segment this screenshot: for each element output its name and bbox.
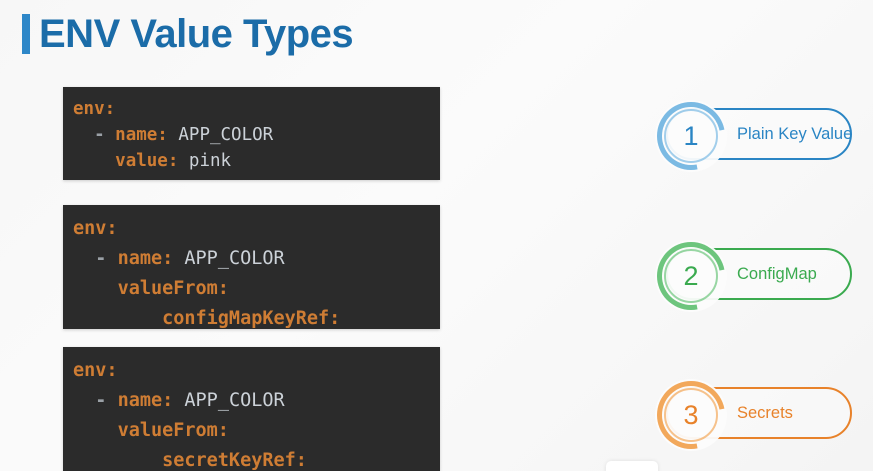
code-value: APP_COLOR: [173, 248, 284, 269]
badge-number: 1: [683, 123, 698, 150]
code-indent: [73, 248, 95, 269]
code-value: pink: [178, 151, 231, 171]
badge-plain-key-value: 1 Plain Key Value: [666, 108, 852, 160]
badge-number-circle: 1: [655, 100, 727, 172]
code-key: secretKeyRef:: [162, 450, 307, 471]
code-block-secrets: env: - name: APP_COLOR valueFrom: secret…: [63, 347, 440, 471]
badge-number: 3: [683, 402, 698, 429]
code-key: name:: [118, 390, 174, 411]
code-indent: [73, 450, 162, 471]
code-indent: [73, 125, 94, 145]
code-key: valueFrom:: [118, 278, 229, 299]
code-key: env:: [73, 360, 118, 381]
code-line: secretKeyRef:: [63, 446, 440, 471]
badge-label: ConfigMap: [737, 266, 817, 283]
code-key: value:: [115, 151, 178, 171]
code-key: name:: [115, 125, 168, 145]
code-block-configmap: env: - name: APP_COLOR valueFrom: config…: [63, 205, 440, 329]
badge-number: 2: [683, 263, 698, 290]
code-line: env:: [63, 214, 440, 244]
code-value: APP_COLOR: [173, 390, 284, 411]
code-line: - name: APP_COLOR: [63, 386, 440, 416]
code-line: valueFrom:: [63, 274, 440, 304]
code-line: valueFrom:: [63, 416, 440, 446]
code-indent: [73, 278, 118, 299]
code-line: configMapKeyRef:: [63, 304, 440, 329]
code-dash: -: [94, 125, 115, 145]
code-indent: [73, 420, 118, 441]
badge-configmap: 2 ConfigMap: [666, 248, 852, 300]
code-line: env:: [63, 96, 440, 122]
code-indent: [73, 151, 115, 171]
bottom-edge-chip: [606, 461, 658, 471]
code-key: env:: [73, 99, 115, 119]
title-text: ENV Value Types: [39, 14, 353, 54]
code-key: configMapKeyRef:: [162, 308, 340, 329]
code-indent: [73, 390, 95, 411]
badge-secrets: 3 Secrets: [666, 387, 852, 439]
code-block-plain-key-value: env: - name: APP_COLOR value: pink: [63, 87, 440, 180]
code-value: APP_COLOR: [168, 125, 273, 145]
code-line: - name: APP_COLOR: [63, 122, 440, 148]
badge-label: Plain Key Value: [737, 126, 852, 143]
badge-label: Secrets: [737, 405, 793, 422]
title-accent-bar: [22, 14, 30, 54]
code-indent: [73, 308, 162, 329]
badge-number-circle: 2: [655, 240, 727, 312]
code-dash: -: [95, 248, 117, 269]
code-line: value: pink: [63, 148, 440, 174]
code-line: env:: [63, 356, 440, 386]
code-key: name:: [118, 248, 174, 269]
code-line: - name: APP_COLOR: [63, 244, 440, 274]
code-key: valueFrom:: [118, 420, 229, 441]
code-dash: -: [95, 390, 117, 411]
page-title: ENV Value Types: [22, 14, 353, 54]
code-key: env:: [73, 218, 118, 239]
badge-number-circle: 3: [655, 379, 727, 451]
